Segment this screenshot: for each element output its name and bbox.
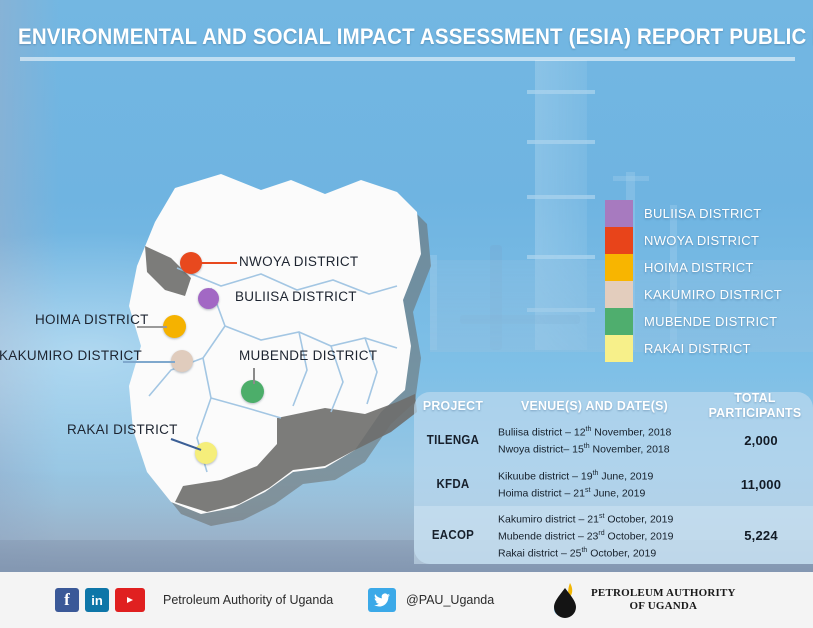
hearings-table-panel: PROJECT VENUE(S) AND DATE(S) TOTAL PARTI… [414, 392, 813, 564]
map-label-nwoya: NWOYA DISTRICT [239, 254, 358, 269]
legend-label-nwoya: NWOYA DISTRICT [644, 233, 759, 248]
column-header-participants: TOTAL PARTICIPANTS [700, 390, 810, 420]
legend-swatch-nwoya [605, 227, 633, 254]
venue-line: Buliisa district – 12th November, 2018 [498, 423, 703, 440]
legend-swatch-mubende [605, 308, 633, 335]
legend-label-rakai: RAKAI DISTRICT [644, 341, 751, 356]
table-row[interactable]: KFDA Kikuube district – 19th June, 2019 … [414, 462, 813, 506]
cell-participants: 2,000 [703, 433, 813, 448]
map-marker-rakai[interactable] [195, 442, 217, 464]
legend-item-mubende[interactable]: MUBENDE DISTRICT [605, 308, 810, 335]
legend-item-nwoya[interactable]: NWOYA DISTRICT [605, 227, 810, 254]
cell-project: TILENGA [417, 433, 489, 447]
map-marker-nwoya[interactable] [180, 252, 202, 274]
title-underline [20, 57, 795, 61]
page-title: ENVIRONMENTAL AND SOCIAL IMPACT ASSESSME… [18, 24, 753, 50]
district-legend: BULIISA DISTRICT NWOYA DISTRICT HOIMA DI… [605, 200, 810, 362]
table-header-row: PROJECT VENUE(S) AND DATE(S) TOTAL PARTI… [414, 392, 813, 418]
cell-participants: 5,224 [703, 528, 813, 543]
map-label-kakumiro: KAKUMIRO DISTRICT [0, 348, 142, 363]
play-triangle-icon [123, 595, 137, 605]
venue-line: Nwoya district– 15th November, 2018 [498, 440, 703, 457]
column-header-venues: VENUE(S) AND DATE(S) [497, 398, 692, 413]
legend-label-kakumiro: KAKUMIRO DISTRICT [644, 287, 782, 302]
legend-swatch-buliisa [605, 200, 633, 227]
twitter-icon[interactable] [368, 588, 396, 612]
cell-project: EACOP [417, 528, 489, 542]
refinery-mast-cross-1 [613, 176, 649, 181]
legend-label-hoima: HOIMA DISTRICT [644, 260, 754, 275]
twitter-bird-icon [374, 593, 391, 607]
venue-line: Rakai district – 25th October, 2019 [498, 544, 703, 561]
table-row[interactable]: EACOP Kakumiro district – 21st October, … [414, 506, 813, 564]
youtube-icon[interactable] [115, 588, 145, 612]
infographic-poster: ENVIRONMENTAL AND SOCIAL IMPACT ASSESSME… [0, 0, 813, 628]
map-label-mubende: MUBENDE DISTRICT [239, 348, 377, 363]
map-marker-buliisa[interactable] [198, 288, 219, 309]
cell-project: KFDA [417, 477, 489, 491]
footer-bar: f in Petroleum Authority of Uganda @PAU_… [0, 572, 813, 628]
cell-venues: Buliisa district – 12th November, 2018 N… [492, 423, 703, 457]
legend-item-rakai[interactable]: RAKAI DISTRICT [605, 335, 810, 362]
map-label-buliisa: BULIISA DISTRICT [235, 289, 357, 304]
map-leader-mubende [253, 368, 255, 384]
venue-line: Mubende district – 23rd October, 2019 [498, 527, 703, 544]
map-leader-nwoya [201, 262, 237, 264]
logo-line-2: OF UGANDA [591, 600, 736, 613]
legend-item-kakumiro[interactable]: KAKUMIRO DISTRICT [605, 281, 810, 308]
legend-swatch-rakai [605, 335, 633, 362]
pau-logo-text: PETROLEUM AUTHORITY OF UGANDA [591, 587, 736, 613]
legend-swatch-kakumiro [605, 281, 633, 308]
legend-label-buliisa: BULIISA DISTRICT [644, 206, 762, 221]
map-label-hoima: HOIMA DISTRICT [35, 312, 149, 327]
uganda-map: NWOYA DISTRICT BULIISA DISTRICT HOIMA DI… [25, 150, 445, 570]
map-label-rakai: RAKAI DISTRICT [67, 422, 178, 437]
linkedin-icon[interactable]: in [85, 588, 109, 612]
twitter-handle: @PAU_Uganda [406, 593, 494, 607]
pau-logo-droplet-icon [548, 581, 582, 619]
cell-venues: Kakumiro district – 21st October, 2019 M… [492, 510, 703, 561]
column-header-project: PROJECT [416, 398, 490, 413]
facebook-page-name: Petroleum Authority of Uganda [163, 593, 333, 607]
venue-line: Hoima district – 21st June, 2019 [498, 484, 703, 501]
cell-venues: Kikuube district – 19th June, 2019 Hoima… [492, 467, 703, 501]
facebook-icon[interactable]: f [55, 588, 79, 612]
venue-line: Kikuube district – 19th June, 2019 [498, 467, 703, 484]
logo-line-1: PETROLEUM AUTHORITY [591, 587, 736, 600]
venue-line: Kakumiro district – 21st October, 2019 [498, 510, 703, 527]
legend-label-mubende: MUBENDE DISTRICT [644, 314, 777, 329]
table-row[interactable]: TILENGA Buliisa district – 12th November… [414, 418, 813, 462]
legend-item-buliisa[interactable]: BULIISA DISTRICT [605, 200, 810, 227]
cell-participants: 11,000 [703, 477, 813, 492]
legend-swatch-hoima [605, 254, 633, 281]
legend-item-hoima[interactable]: HOIMA DISTRICT [605, 254, 810, 281]
hearings-table: PROJECT VENUE(S) AND DATE(S) TOTAL PARTI… [414, 392, 813, 564]
